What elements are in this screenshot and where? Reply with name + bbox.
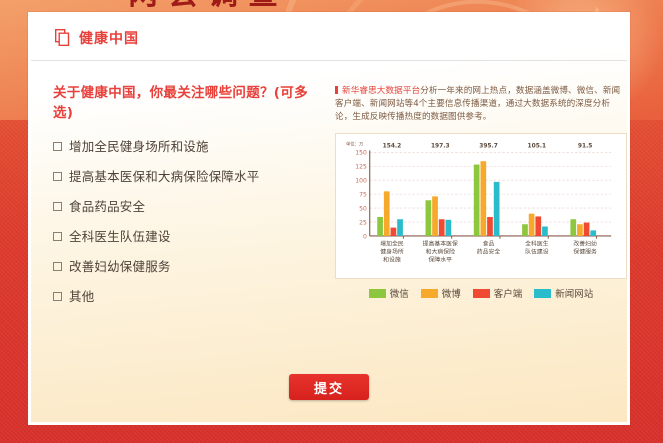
chart-legend: 微信 微博 客户端 新闻网站 [335,286,627,300]
svg-text:150: 150 [355,150,367,157]
option-label: 食品药品安全 [69,199,145,214]
svg-text:保健服务: 保健服务 [573,248,597,256]
legend-item-weibo[interactable]: 微博 [421,286,461,300]
cutoff-banner-title: 两会调查 [0,0,663,9]
checkbox-icon[interactable] [53,262,62,271]
option-label: 全科医生队伍建设 [69,229,171,244]
legend-swatch [421,289,438,298]
option-row-4[interactable]: 全科医生队伍建设 [53,229,325,244]
option-label: 其他 [69,289,94,304]
svg-text:全科医生: 全科医生 [525,239,549,247]
legend-item-app[interactable]: 客户端 [473,286,523,300]
svg-text:105.1: 105.1 [528,144,547,150]
survey-section: 关于健康中国，你最关注哪些问题？(可多选) 增加全民健身场所和设施 提高基本医保… [53,83,325,319]
page-background: 两会调查 健康中国 关于健康中国，你最关注哪些问题？(可多选) 增加全民健身场所… [0,0,663,443]
card-header: 健康中国 [31,15,627,61]
svg-text:91.5: 91.5 [578,144,593,150]
svg-text:25: 25 [359,219,367,226]
svg-text:100: 100 [355,177,367,184]
svg-text:0: 0 [363,233,367,240]
legend-label: 微信 [390,286,409,300]
svg-text:食品: 食品 [483,239,495,247]
svg-text:健身场所: 健身场所 [380,248,404,256]
svg-text:154.2: 154.2 [383,144,402,150]
legend-swatch [369,289,386,298]
document-copy-icon [55,29,70,46]
svg-text:和设施: 和设施 [383,256,401,264]
option-row-3[interactable]: 食品药品安全 [53,199,325,214]
option-row-2[interactable]: 提高基本医保和大病保险保障水平 [53,169,325,184]
legend-label: 微博 [442,286,461,300]
option-label: 改善妇幼保健服务 [69,259,171,274]
svg-text:50: 50 [359,205,367,212]
bar-chart: 单位：万0255075100125150154.2增加全民健身场所和设施197.… [340,139,620,274]
option-row-1[interactable]: 增加全民健身场所和设施 [53,139,325,154]
checkbox-icon[interactable] [53,292,62,301]
source-description: 新华睿思大数据平台分析一年来的网上热点，数据涵盖微博、微信、新闻客户端、新闻网站… [335,85,627,124]
svg-text:改善妇幼: 改善妇幼 [573,239,597,247]
lead-bar-icon [335,86,338,94]
legend-item-website[interactable]: 新闻网站 [534,286,593,300]
svg-text:药品安全: 药品安全 [477,248,501,256]
svg-text:保障水平: 保障水平 [429,256,453,264]
survey-question: 关于健康中国，你最关注哪些问题？(可多选) [53,83,325,123]
brand-title: 健康中国 [79,28,139,48]
survey-card: 健康中国 关于健康中国，你最关注哪些问题？(可多选) 增加全民健身场所和设施 提… [28,12,630,425]
legend-label: 客户端 [494,286,523,300]
legend-swatch [473,289,490,298]
card-body: 关于健康中国，你最关注哪些问题？(可多选) 增加全民健身场所和设施 提高基本医保… [31,61,627,319]
submit-area: 提交 [31,374,627,400]
svg-text:197.3: 197.3 [431,144,450,150]
source-tag: 新华睿思大数据平台 [342,86,420,96]
svg-text:增加全民: 增加全民 [380,239,404,247]
checkbox-icon[interactable] [53,232,62,241]
info-section: 新华睿思大数据平台分析一年来的网上热点，数据涵盖微博、微信、新闻客户端、新闻网站… [335,83,627,319]
option-label: 提高基本医保和大病保险保障水平 [69,169,260,184]
checkbox-icon[interactable] [53,202,62,211]
checkbox-icon[interactable] [53,142,62,151]
svg-text:395.7: 395.7 [479,144,498,150]
option-row-5[interactable]: 改善妇幼保健服务 [53,259,325,274]
svg-text:队伍建设: 队伍建设 [525,248,549,256]
submit-button[interactable]: 提交 [289,374,369,400]
option-row-6[interactable]: 其他 [53,289,325,304]
checkbox-icon[interactable] [53,172,62,181]
legend-label: 新闻网站 [555,286,593,300]
svg-text:125: 125 [355,164,367,171]
svg-text:75: 75 [359,191,367,198]
svg-text:提高基本医保: 提高基本医保 [423,239,458,247]
banner-title-text: 两会调查 [128,0,288,9]
option-label: 增加全民健身场所和设施 [69,139,209,154]
survey-options-list: 增加全民健身场所和设施 提高基本医保和大病保险保障水平 食品药品安全 全科医生队… [53,139,325,304]
legend-swatch [534,289,551,298]
legend-item-wechat[interactable]: 微信 [369,286,409,300]
chart-container: 单位：万0255075100125150154.2增加全民健身场所和设施197.… [335,133,627,279]
svg-text:和大病保险: 和大病保险 [426,248,456,256]
svg-text:单位：万: 单位：万 [346,141,364,148]
